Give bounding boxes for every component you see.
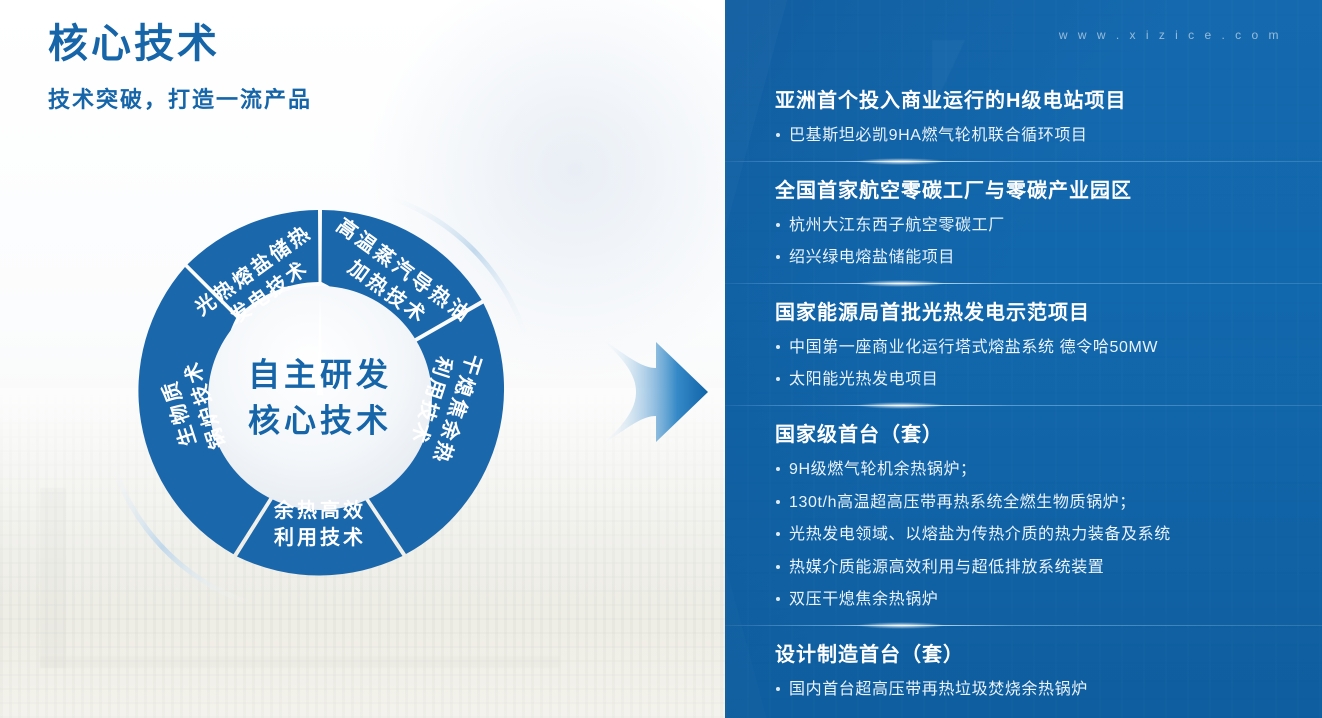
list-item: 9H级燃气轮机余热锅炉； <box>775 459 1282 481</box>
section-group-5: 设计制造首台（套） 国内首台超高压带再热垃圾焚烧余热锅炉 <box>725 642 1322 701</box>
section-heading: 设计制造首台（套） <box>775 642 1282 668</box>
list-item: 国内首台超高压带再热垃圾焚烧余热锅炉 <box>775 679 1282 701</box>
list-item: 杭州大江东西子航空零碳工厂 <box>775 215 1282 237</box>
section-heading: 国家级首台（套） <box>775 422 1282 448</box>
section-group-1: 亚洲首个投入商业运行的H级电站项目 巴基斯坦必凯9HA燃气轮机联合循环项目 <box>725 88 1322 147</box>
right-panel: w w w . x i z i c e . c o m 亚洲首个投入商业运行的H… <box>725 0 1322 718</box>
page-subtitle: 技术突破，打造一流产品 <box>48 82 312 114</box>
section-group-4: 国家级首台（套） 9H级燃气轮机余热锅炉； 130t/h高温超高压带再热系统全燃… <box>725 422 1322 611</box>
segment-4-line1: 余热高效 <box>250 498 390 525</box>
section-heading: 亚洲首个投入商业运行的H级电站项目 <box>775 88 1282 114</box>
page-title-block: 核心技术 技术突破，打造一流产品 <box>48 20 312 114</box>
achievement-sections: 亚洲首个投入商业运行的H级电站项目 巴基斯坦必凯9HA燃气轮机联合循环项目 全国… <box>725 88 1322 712</box>
section-bullet-list: 杭州大江东西子航空零碳工厂 绍兴绿电熔盐储能项目 <box>775 215 1282 269</box>
list-item: 绍兴绿电熔盐储能项目 <box>775 247 1282 269</box>
section-divider <box>725 625 1322 626</box>
list-item: 热媒介质能源高效利用与超低排放系统装置 <box>775 557 1282 579</box>
flow-arrow <box>596 328 716 456</box>
section-bullet-list: 国内首台超高压带再热垃圾焚烧余热锅炉 <box>775 679 1282 701</box>
segment-4-line2: 利用技术 <box>250 525 390 552</box>
section-divider <box>725 161 1322 162</box>
donut-center-label: 自主研发 核心技术 <box>248 352 392 445</box>
section-group-3: 国家能源局首批光热发电示范项目 中国第一座商业化运行塔式熔盐系统 德令哈50MW… <box>725 300 1322 391</box>
list-item: 双压干熄焦余热锅炉 <box>775 589 1282 611</box>
page-title: 核心技术 <box>48 20 312 68</box>
section-bullet-list: 9H级燃气轮机余热锅炉； 130t/h高温超高压带再热系统全燃生物质锅炉； 光热… <box>775 459 1282 611</box>
section-group-2: 全国首家航空零碳工厂与零碳产业园区 杭州大江东西子航空零碳工厂 绍兴绿电熔盐储能… <box>725 178 1322 269</box>
list-item: 巴基斯坦必凯9HA燃气轮机联合循环项目 <box>775 125 1282 147</box>
segment-label-4: 余热高效 利用技术 <box>250 498 390 552</box>
section-divider <box>725 283 1322 284</box>
slide-canvas: 核心技术 技术突破，打造一流产品 <box>0 0 1322 718</box>
center-line-2: 核心技术 <box>248 398 392 444</box>
section-bullet-list: 中国第一座商业化运行塔式熔盐系统 德令哈50MW 太阳能光热发电项目 <box>775 337 1282 391</box>
arrow-icon <box>596 328 716 456</box>
core-technology-donut-diagram: 光热熔盐储热 发电技术 高温蒸汽导热油 加热技术 干熄焦余热 利用技术 余热高效… <box>75 163 565 633</box>
section-bullet-list: 巴基斯坦必凯9HA燃气轮机联合循环项目 <box>775 125 1282 147</box>
list-item: 中国第一座商业化运行塔式熔盐系统 德令哈50MW <box>775 337 1282 359</box>
section-divider <box>725 405 1322 406</box>
section-heading: 全国首家航空零碳工厂与零碳产业园区 <box>775 178 1282 204</box>
list-item: 太阳能光热发电项目 <box>775 369 1282 391</box>
list-item: 光热发电领域、以熔盐为传热介质的热力装备及系统 <box>775 524 1282 546</box>
center-line-1: 自主研发 <box>248 352 392 398</box>
section-heading: 国家能源局首批光热发电示范项目 <box>775 300 1282 326</box>
site-watermark: w w w . x i z i c e . c o m <box>1059 28 1282 42</box>
left-panel: 核心技术 技术突破，打造一流产品 <box>0 0 725 718</box>
list-item: 130t/h高温超高压带再热系统全燃生物质锅炉； <box>775 492 1282 514</box>
